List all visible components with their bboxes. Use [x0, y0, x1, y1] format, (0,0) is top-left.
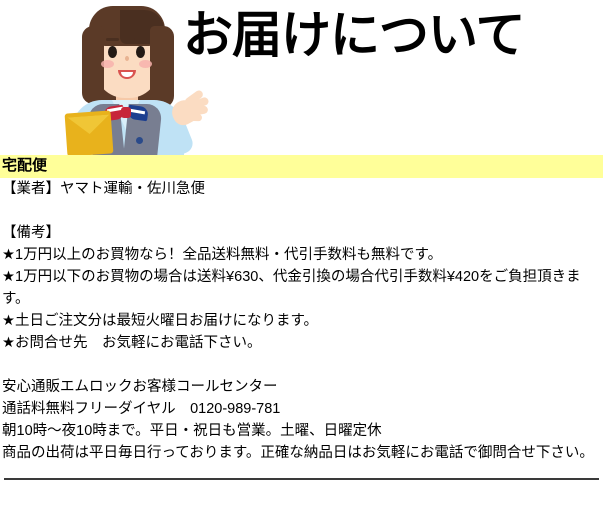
call-center-name: 安心通販エムロックお客様コールセンター — [2, 376, 601, 398]
page-content: 【業者】ヤマト運輸・佐川急便 【備考】 ★1万円以上のお買物なら！全品送料無料・… — [0, 178, 603, 480]
cheek-right-shape — [139, 60, 152, 68]
remarks-heading: 【備考】 — [2, 222, 601, 244]
eyebrow-left-shape — [106, 38, 119, 41]
nose-shape — [125, 56, 129, 61]
toll-free-phone-line[interactable]: 通話料無料フリーダイヤル 0120-989-781 — [2, 398, 601, 420]
business-hours: 朝10時〜夜10時まで。平日・祝日も営業。土曜、日曜定休 — [2, 420, 601, 442]
page-header-banner: お届けについて — [0, 0, 603, 155]
eye-right-shape — [136, 46, 145, 58]
bow-tie-knot-shape — [121, 107, 131, 118]
delivery-heading-highlight: 宅配便 — [0, 155, 603, 178]
customer-service-woman-illustration — [60, 0, 190, 155]
shipping-note: 商品の出荷は平日毎日行っております。正確な納品日はお気軽にお電話で御問合せ下さい… — [2, 442, 601, 464]
delivery-info-page: { "header": { "title": "お届けについて", "illus… — [0, 0, 603, 528]
hair-side-right-shape — [150, 26, 174, 108]
eye-left-shape — [108, 46, 117, 58]
cheek-left-shape — [101, 60, 114, 68]
remark-item-weekend-delivery: ★土日ご注文分は最短火曜日お届けになります。 — [2, 310, 601, 332]
remark-item-contact-invite: ★お問合せ先 お気軽にお電話下さい。 — [2, 332, 601, 354]
finger-4-shape — [185, 114, 202, 122]
spacer-before-contact — [2, 354, 601, 376]
carriers-line: 【業者】ヤマト運輸・佐川急便 — [2, 178, 601, 200]
remark-item-fees: ★1万円以下のお買物の場合は送料¥630、代金引換の場合代引手数料¥420をご負… — [2, 266, 601, 310]
footer-divider — [4, 478, 599, 480]
spacer-after-carriers — [2, 200, 601, 222]
eyebrow-right-shape — [134, 38, 147, 41]
page-title: お届けについて — [183, 4, 525, 66]
delivery-heading-text: 宅配便 — [0, 156, 603, 176]
remark-item-free-shipping: ★1万円以上のお買物なら！全品送料無料・代引手数料も無料です。 — [2, 244, 601, 266]
vest-button-shape — [136, 137, 143, 144]
